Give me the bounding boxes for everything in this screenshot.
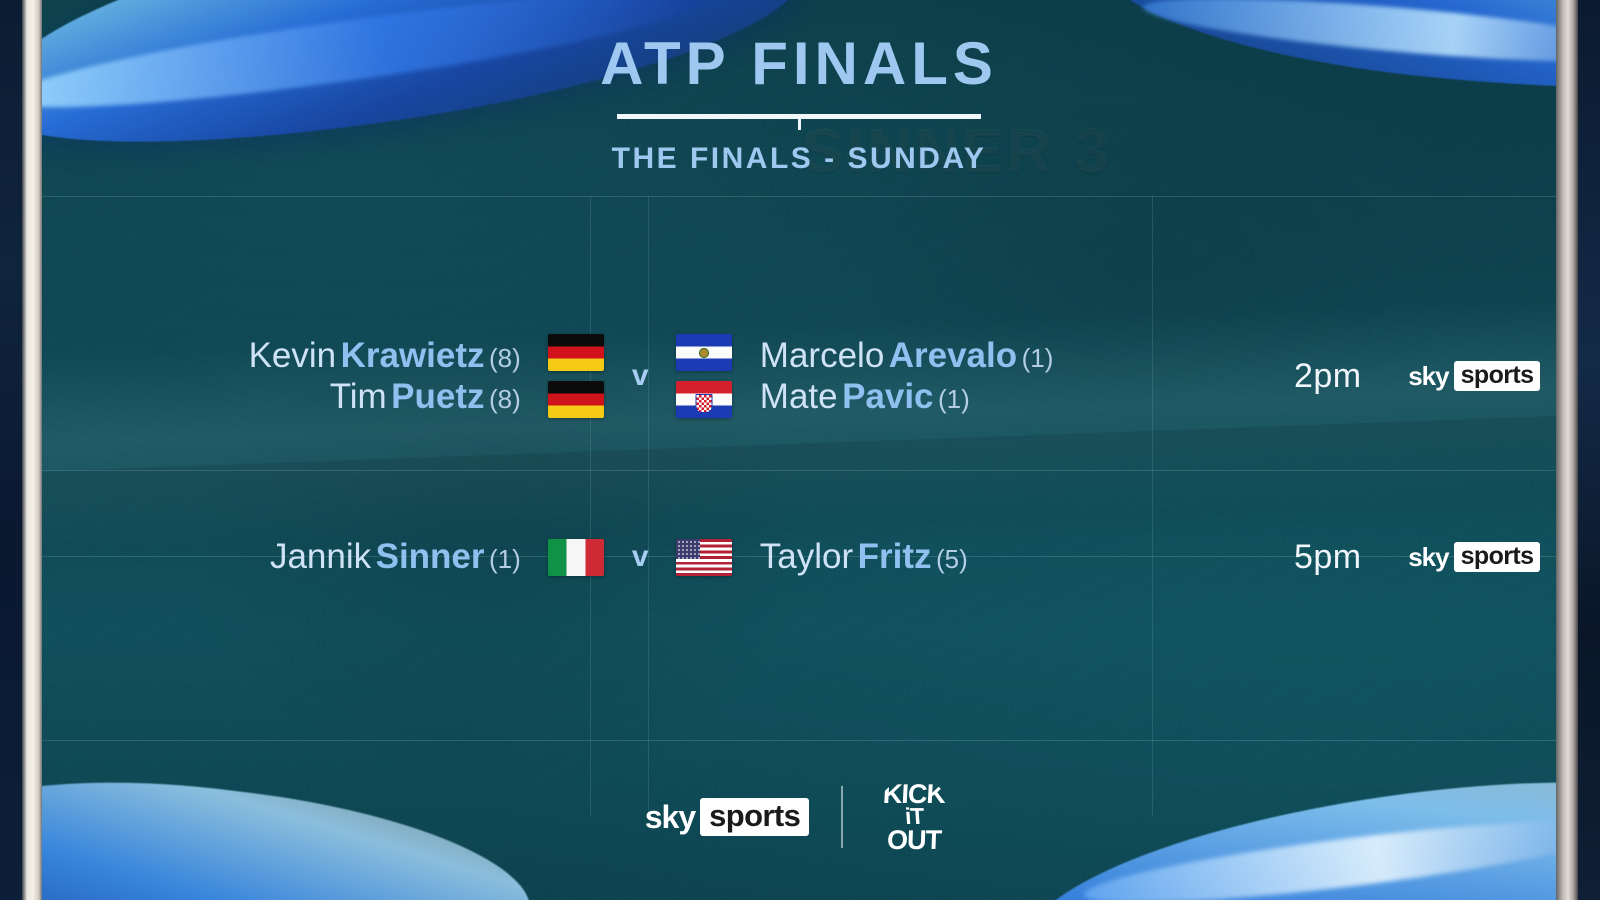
sky-wordmark: sky — [1408, 363, 1448, 389]
player-seed: (5) — [936, 544, 968, 574]
sky-wordmark: sky — [1408, 544, 1448, 570]
page-title: ATP FINALS — [42, 34, 1556, 94]
italy-flag — [548, 539, 604, 576]
left-light-bar — [22, 0, 42, 900]
player-seed: (1) — [938, 384, 970, 414]
sky-wordmark: sky — [645, 801, 695, 833]
title-rule — [617, 114, 981, 126]
match-right-flags — [671, 539, 738, 576]
gridline-vertical-time — [1152, 196, 1153, 816]
match-right-team: Marcelo Arevalo (1) Mate Pavic (1) — [738, 335, 1278, 418]
gridline-vertical-right — [648, 196, 649, 816]
broadcast-screen: SINNER 3 ATP FINALS THE FINALS - SUNDAY … — [0, 0, 1600, 900]
footer-divider — [841, 786, 843, 848]
player-last-name: Puetz — [391, 377, 484, 416]
match-left-flags — [543, 334, 610, 418]
match-broadcaster: sky sports — [1408, 361, 1556, 391]
title-rule-tick — [798, 119, 801, 130]
sports-wordmark: sports — [1454, 361, 1541, 391]
player-first-name: Mate — [760, 377, 838, 416]
player-last-name: Krawietz — [341, 336, 485, 375]
player-name: Kevin Krawietz (8) — [42, 335, 521, 376]
match-time: 5pm — [1278, 538, 1408, 577]
usa-flag — [676, 539, 732, 576]
el-salvador-flag — [676, 334, 732, 371]
sky-sports-logo: sky sports — [1408, 542, 1540, 572]
player-seed: (1) — [1022, 343, 1054, 373]
sky-sports-logo: sky sports — [1408, 361, 1540, 391]
gridline-horizontal-middle — [42, 470, 1556, 471]
player-name: Mate Pavic (1) — [760, 376, 1278, 417]
match-row[interactable]: Kevin Krawietz (8) Tim Puetz (8) v — [42, 318, 1556, 434]
player-first-name: Jannik — [270, 537, 371, 576]
match-left-team: Jannik Sinner (1) — [42, 536, 543, 577]
gridline-horizontal-bottom — [42, 740, 1556, 741]
player-name: Tim Puetz (8) — [42, 376, 521, 417]
kick-it-out-logo: KICK iT OUT — [875, 778, 953, 856]
left-dark-edge — [0, 0, 22, 900]
versus-label: v — [610, 359, 671, 393]
player-last-name: Pavic — [842, 377, 933, 416]
germany-flag — [548, 381, 604, 418]
player-first-name: Kevin — [249, 336, 337, 375]
germany-flag — [548, 334, 604, 371]
kick-it-out-line-3: OUT — [887, 828, 942, 853]
player-first-name: Taylor — [760, 537, 853, 576]
player-name: Marcelo Arevalo (1) — [760, 335, 1278, 376]
player-seed: (8) — [489, 384, 521, 414]
match-right-team: Taylor Fritz (5) — [738, 536, 1278, 577]
gridline-vertical-left — [590, 196, 591, 816]
right-light-bar — [1556, 0, 1578, 900]
sports-wordmark: sports — [700, 798, 809, 837]
player-last-name: Fritz — [858, 537, 932, 576]
player-seed: (8) — [489, 343, 521, 373]
versus-label: v — [610, 540, 671, 574]
usa-flag-canton — [676, 539, 700, 559]
player-last-name: Sinner — [376, 537, 485, 576]
match-right-flags — [671, 334, 738, 418]
player-name: Taylor Fritz (5) — [760, 536, 1278, 577]
right-dark-edge — [1578, 0, 1600, 900]
header: ATP FINALS THE FINALS - SUNDAY — [42, 34, 1556, 176]
match-time: 2pm — [1278, 357, 1408, 396]
match-left-flags — [543, 539, 610, 576]
player-seed: (1) — [489, 544, 521, 574]
player-first-name: Tim — [330, 377, 387, 416]
match-broadcaster: sky sports — [1408, 542, 1556, 572]
player-name: Jannik Sinner (1) — [42, 536, 521, 577]
gridline-horizontal-top — [42, 196, 1556, 197]
player-first-name: Marcelo — [760, 336, 884, 375]
graphic-panel: SINNER 3 ATP FINALS THE FINALS - SUNDAY … — [42, 0, 1556, 900]
match-row[interactable]: Jannik Sinner (1) v Taylor Fritz — [42, 522, 1556, 592]
croatia-flag — [676, 381, 732, 418]
sky-sports-logo-footer: sky sports — [645, 798, 810, 837]
player-last-name: Arevalo — [889, 336, 1017, 375]
page-subtitle: THE FINALS - SUNDAY — [42, 142, 1556, 176]
match-left-team: Kevin Krawietz (8) Tim Puetz (8) — [42, 335, 543, 418]
footer: sky sports KICK iT OUT — [42, 778, 1556, 856]
sports-wordmark: sports — [1454, 542, 1541, 572]
